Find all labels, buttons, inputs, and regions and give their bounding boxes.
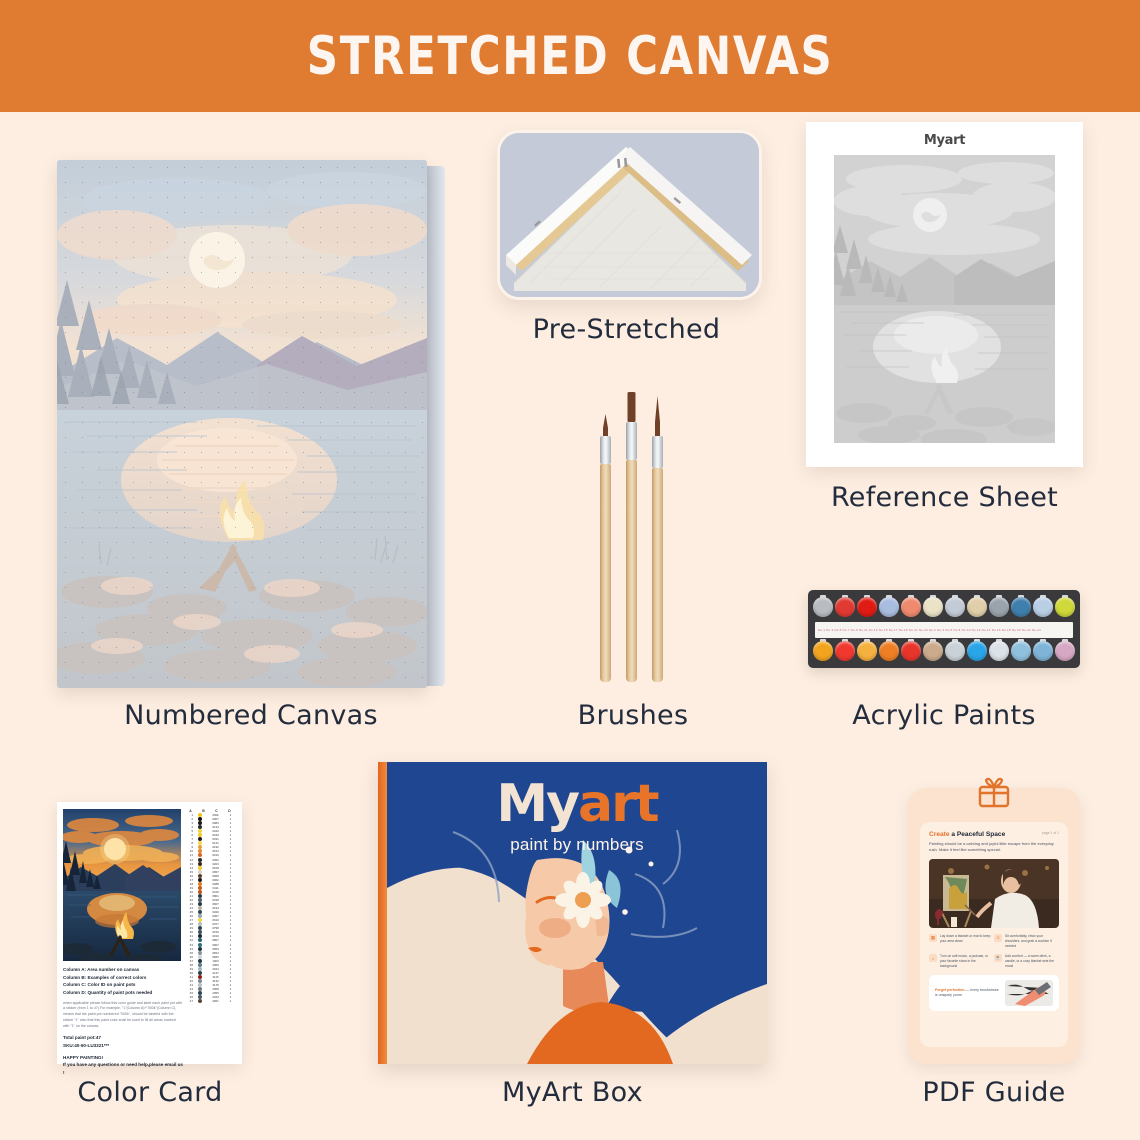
- paint-pot-bottom-12: [1055, 639, 1075, 665]
- numbered-canvas: [57, 160, 445, 688]
- legend-swatch-cell: [195, 999, 205, 1003]
- pdf-callout: Forget perfection — every brushstroke is…: [929, 975, 1059, 1011]
- reference-sheet-artwork: [834, 155, 1055, 443]
- paint-pot-lid: [945, 597, 965, 617]
- caption-pre-stretched: Pre-Stretched: [497, 314, 756, 345]
- brush-round: [652, 396, 663, 682]
- pdf-heading: page 1 of 1 Create a Peaceful Space: [929, 831, 1059, 838]
- paint-pot-lid: [813, 641, 833, 661]
- pdf-tip-item: ♪Turn on soft music, a podcast, or your …: [929, 954, 994, 969]
- paint-pot-lid: [967, 641, 987, 661]
- legend-line-d: Column D: Quantity of paint pots needed: [63, 990, 152, 995]
- caption-color-card: Color Card: [30, 1077, 270, 1108]
- color-card: Column A: Area number on canvas Column B…: [57, 802, 242, 1064]
- paint-row-top: [813, 595, 1075, 621]
- paint-pot-lid: [923, 641, 943, 661]
- callout-bold: Forget perfection: [935, 988, 965, 992]
- paint-pot-top-2: [835, 595, 855, 621]
- paint-pot-lid: [989, 597, 1009, 617]
- caption-brushes: Brushes: [520, 700, 746, 731]
- paint-pot-bottom-9: [989, 639, 1009, 665]
- color-card-fine-print: when applicable please follow this color…: [63, 1001, 183, 1030]
- pdf-tip-text: Turn on soft music, a podcast, or your f…: [940, 954, 991, 969]
- paint-pot-lid: [857, 641, 877, 661]
- paint-pot-lid: [901, 641, 921, 661]
- canvas-face: [57, 160, 427, 688]
- callout-image: [1005, 980, 1053, 1006]
- pdf-tip-item: ☕Add comfort — a warm drink, a candle, o…: [994, 954, 1059, 969]
- paint-pot-lid: [1011, 641, 1031, 661]
- pdf-heading-accent: Create: [929, 831, 950, 838]
- paint-pot-lid: [945, 641, 965, 661]
- paint-pot-top-10: [1011, 595, 1031, 621]
- pdf-page-marker: page 1 of 1: [1042, 831, 1059, 835]
- legend-line-b: Column B: Examples of correct colors: [63, 975, 146, 980]
- logo-my: My: [496, 774, 578, 834]
- pdf-subtitle: Painting should be a calming and joyful …: [929, 841, 1059, 854]
- paint-pot-top-8: [967, 595, 987, 621]
- pdf-tip-text: Sit comfortably, relax your shoulders, a…: [1005, 934, 1056, 949]
- box-front-panel: Myart paint by numbers: [387, 762, 767, 1064]
- paint-pot-bottom-8: [967, 639, 987, 665]
- page-title: STRETCHED CANVAS: [307, 26, 834, 87]
- paint-pot-lid: [857, 597, 877, 617]
- paint-pot-bottom-1: [813, 639, 833, 665]
- paint-pot-lid: [835, 597, 855, 617]
- pdf-page: page 1 of 1 Create a Peaceful Space Pain…: [920, 822, 1068, 1047]
- paint-pot-bottom-11: [1033, 639, 1053, 665]
- pdf-tip-item: ☺Sit comfortably, relax your shoulders, …: [994, 934, 1059, 949]
- myart-logo: Myart paint by numbers: [387, 778, 767, 855]
- paint-pot-lid: [835, 641, 855, 661]
- paint-pot-top-3: [857, 595, 877, 621]
- paint-pot-top-12: [1055, 595, 1075, 621]
- paint-pot-lid: [813, 597, 833, 617]
- pdf-tip-icon: ☺: [994, 934, 1002, 942]
- paint-pot-lid: [1033, 641, 1053, 661]
- pdf-guide: page 1 of 1 Create a Peaceful Space Pain…: [908, 788, 1080, 1064]
- paint-pot-lid: [879, 641, 899, 661]
- brush-flat: [626, 392, 637, 682]
- paint-label-strip: No.1 No.3 No.5 No.7 No.9 No.11 No.13 No.…: [815, 622, 1073, 638]
- legend-area-number: 47: [184, 999, 195, 1003]
- pdf-tip-icon: ♪: [929, 954, 937, 962]
- paint-pot-lid: [879, 597, 899, 617]
- brushes: [588, 392, 678, 682]
- paint-pot-lid: [1055, 641, 1075, 661]
- products-stage: Numbered Canvas: [0, 112, 1140, 1140]
- paint-pot-bottom-7: [945, 639, 965, 665]
- pdf-tip-icon: ▦: [929, 934, 937, 942]
- paint-pot-lid: [1055, 597, 1075, 617]
- canvas-corner-illustration: [500, 133, 759, 297]
- legend-color-id: 2061: [205, 999, 226, 1003]
- logo-tagline: paint by numbers: [387, 835, 767, 855]
- pdf-heading-rest: a Peaceful Space: [950, 831, 1006, 838]
- paint-pot-lid: [1011, 597, 1031, 617]
- legend-line-c: Column C: Color ID on paint pots: [63, 982, 135, 987]
- caption-reference-sheet: Reference Sheet: [806, 482, 1083, 513]
- pdf-tips: ▦Lay down a blanket or mat to keep your …: [929, 934, 1059, 975]
- logo-art: art: [578, 774, 658, 834]
- paint-pot-lid: [923, 597, 943, 617]
- happy-painting: HAPPY PAINTING!: [63, 1055, 103, 1060]
- paint-pot-top-7: [945, 595, 965, 621]
- myart-box: Myart paint by numbers: [378, 762, 767, 1064]
- caption-numbered-canvas: Numbered Canvas: [57, 700, 445, 731]
- legend-row: 4720611: [184, 999, 236, 1003]
- paint-pot-bottom-3: [857, 639, 877, 665]
- paint-pot-bottom-2: [835, 639, 855, 665]
- paint-pot-lid: [1033, 597, 1053, 617]
- brush-thin-round: [600, 414, 611, 682]
- legend-quantity: 1: [226, 999, 235, 1003]
- contact-line: If you have any questions or need help,p…: [63, 1062, 183, 1075]
- paint-pot-top-1: [813, 595, 833, 621]
- caption-pdf-guide: PDF Guide: [880, 1077, 1108, 1108]
- reference-sheet: Myart: [806, 122, 1083, 467]
- pdf-tip-text: Add comfort — a warm drink, a candle, or…: [1005, 954, 1056, 969]
- box-spine: [378, 762, 387, 1064]
- paint-pot-bottom-10: [1011, 639, 1031, 665]
- reference-sheet-logo: Myart: [806, 122, 1083, 148]
- paint-pot-lid: [967, 597, 987, 617]
- paint-pot-top-6: [923, 595, 943, 621]
- canvas-number-dots: [57, 160, 427, 688]
- paint-row-bottom: [813, 639, 1075, 665]
- paint-pot-bottom-5: [901, 639, 921, 665]
- total-paint-pot: Total paint pot:47: [63, 1035, 101, 1040]
- color-card-legend-text: Column A: Area number on canvas Column B…: [63, 966, 183, 1077]
- acrylic-paint-tray: No.1 No.3 No.5 No.7 No.9 No.11 No.13 No.…: [808, 590, 1080, 668]
- paint-pot-bottom-4: [879, 639, 899, 665]
- color-card-artwork: [63, 809, 181, 961]
- pre-stretched-photo: [497, 130, 762, 300]
- sku: SKU:40-50-LU3321***: [63, 1043, 109, 1048]
- pdf-tip-item: ▦Lay down a blanket or mat to keep your …: [929, 934, 994, 949]
- paint-pot-bottom-6: [923, 639, 943, 665]
- color-legend-table: A B C D 1000k120007130083140134150422160…: [184, 809, 236, 1003]
- page-header: STRETCHED CANVAS: [0, 0, 1140, 112]
- legend-color-swatch: [198, 999, 202, 1003]
- gift-icon: [975, 772, 1013, 810]
- paint-pot-top-11: [1033, 595, 1053, 621]
- pdf-tip-text: Lay down a blanket or mat to keep your a…: [940, 934, 991, 949]
- caption-acrylic-paints: Acrylic Paints: [808, 700, 1080, 731]
- legend-line-a: Column A: Area number on canvas: [63, 967, 139, 972]
- paint-pot-top-5: [901, 595, 921, 621]
- paint-pot-lid: [989, 641, 1009, 661]
- canvas-wrapped-edge: [427, 166, 445, 686]
- caption-myart-box: MyArt Box: [378, 1077, 767, 1108]
- paint-pot-lid: [901, 597, 921, 617]
- paint-pot-top-4: [879, 595, 899, 621]
- pdf-tip-icon: ☕: [994, 954, 1002, 962]
- paint-pot-top-9: [989, 595, 1009, 621]
- pdf-photo: [929, 859, 1059, 928]
